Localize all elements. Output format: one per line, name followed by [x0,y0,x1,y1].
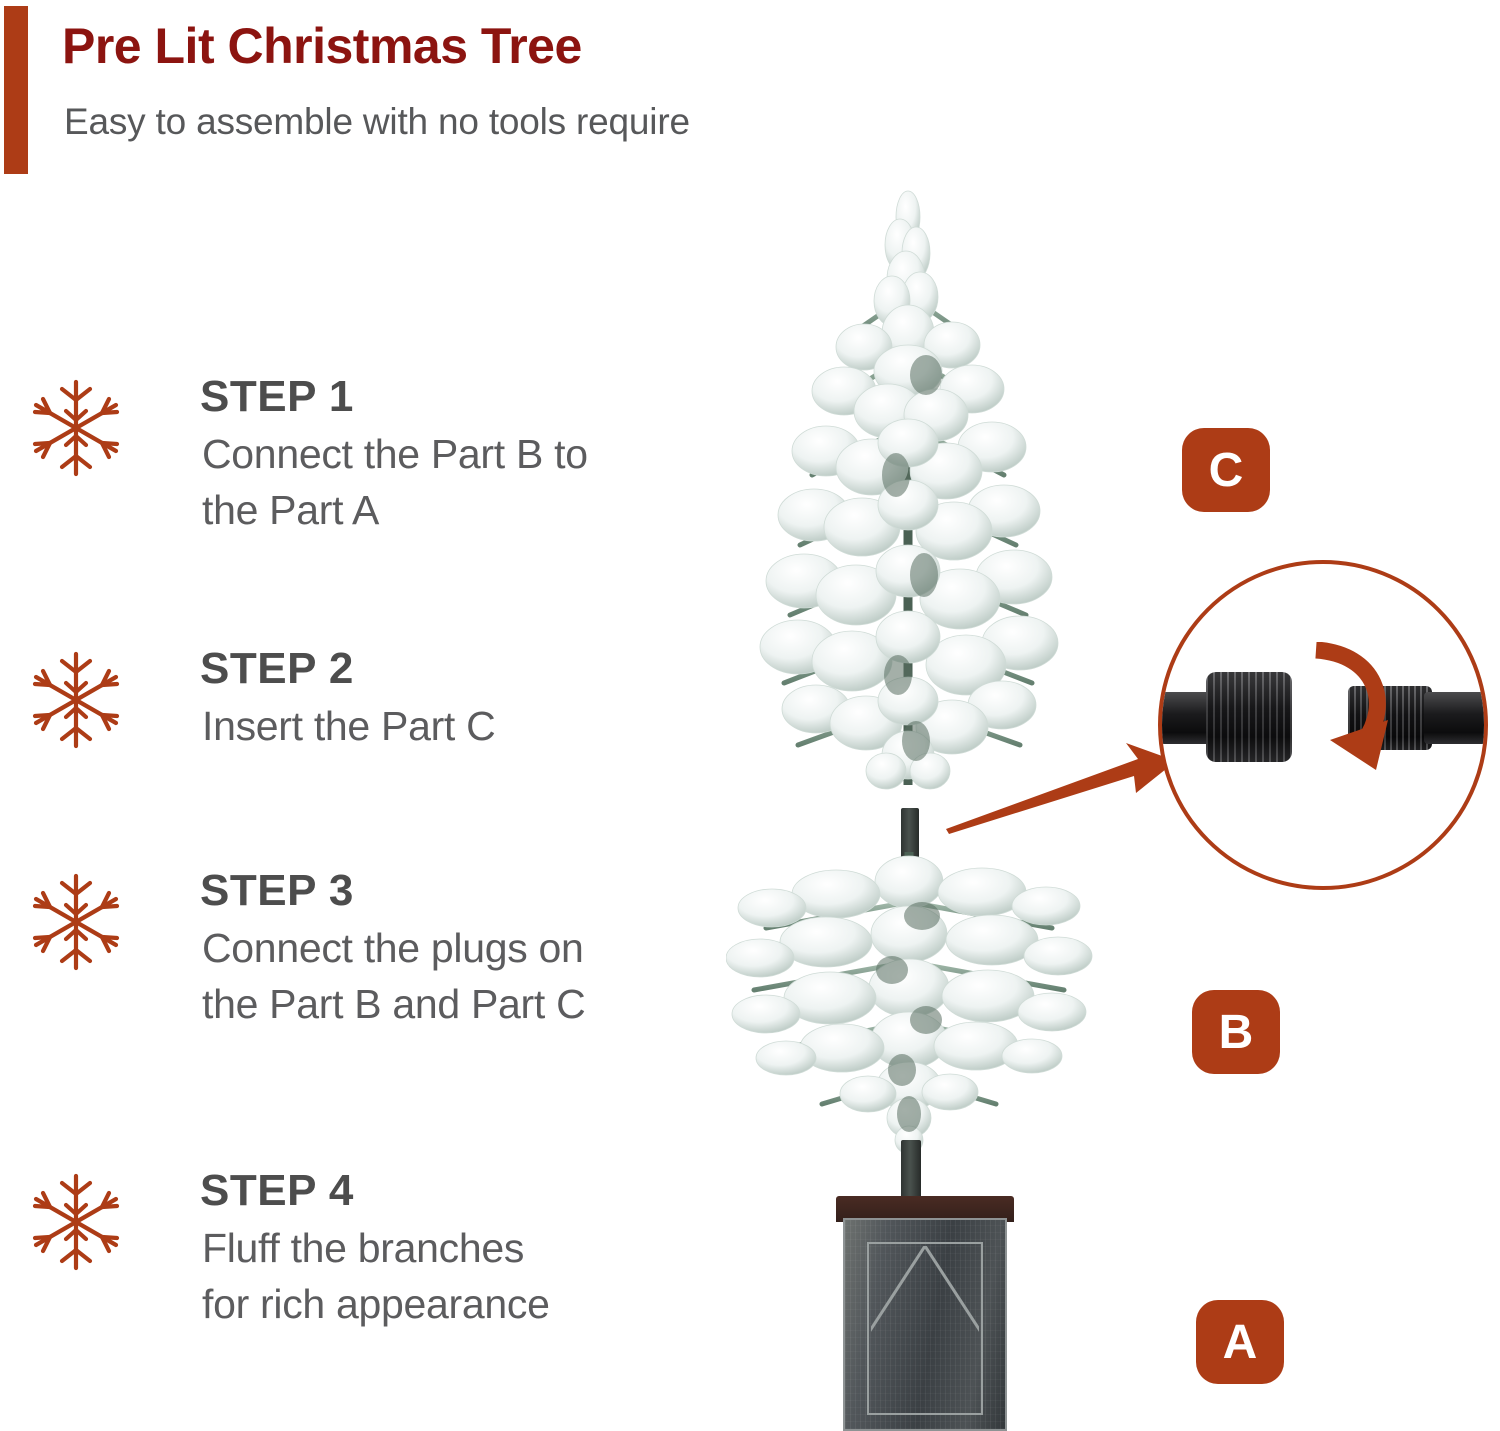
page-title: Pre Lit Christmas Tree [62,17,582,75]
step-title: STEP 3 [200,866,354,916]
part-label-text: A [1223,1315,1258,1370]
part-label-c: C [1182,428,1270,512]
snowflake-icon [26,1172,126,1272]
male-plug-cable [1424,692,1488,744]
tree-middle-trunk-stub [901,1140,921,1202]
instruction-sheet: Pre Lit Christmas Tree Easy to assemble … [0,0,1500,1431]
part-label-text: B [1219,1005,1254,1060]
planter-cross-brace [871,1246,979,1411]
part-label-a: A [1196,1300,1284,1384]
part-label-text: C [1209,443,1244,498]
page-subtitle: Easy to assemble with no tools require [64,101,690,143]
plug-connection-detail [1158,560,1488,890]
part-label-b: B [1192,990,1280,1074]
step-title: STEP 4 [200,1166,354,1216]
step-title: STEP 2 [200,644,354,694]
snowflake-icon [26,378,126,478]
callout-arrow [940,735,1180,845]
flocked-tree-middle-section [726,842,1096,1172]
step-title: STEP 1 [200,372,354,422]
step-description: Insert the Part C [202,698,495,754]
header-accent-bar [4,6,28,174]
snowflake-icon [26,872,126,972]
snowflake-icon [26,650,126,750]
step-description: Connect the plugs on the Part B and Part… [202,920,585,1032]
flocked-tree-top-section [740,175,1080,825]
twist-direction-arrow [1280,642,1410,792]
step-description: Fluff the branches for rich appearance [202,1220,550,1332]
step-description: Connect the Part B to the Part A [202,426,588,538]
rustic-planter-box [843,1218,1007,1431]
